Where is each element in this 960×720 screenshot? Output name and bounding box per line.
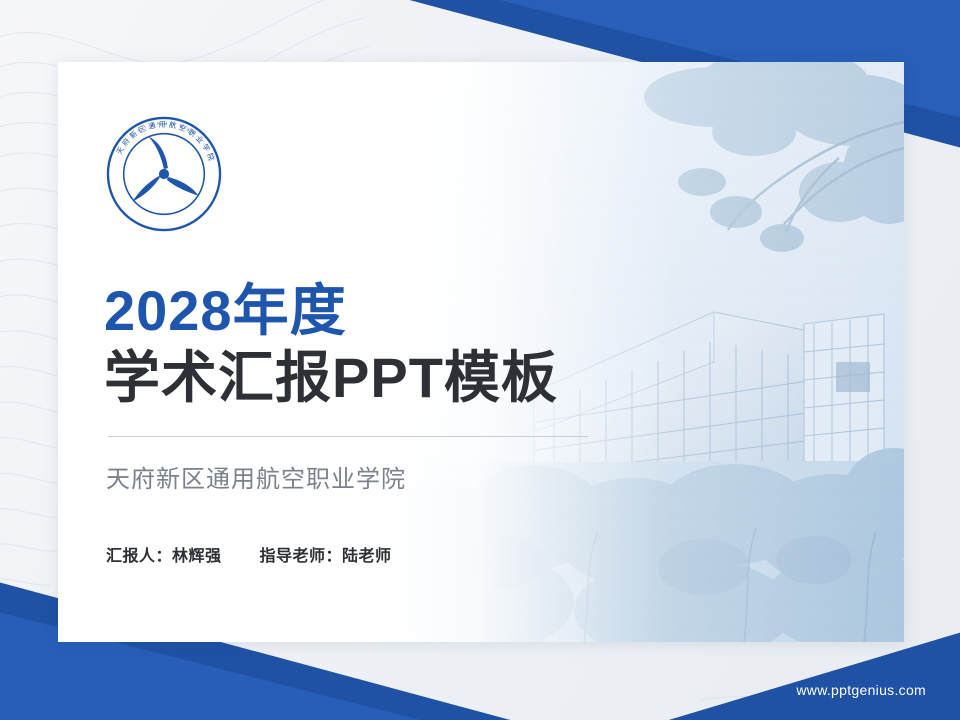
svg-text:N: N (157, 121, 161, 126)
website-url: www.pptgenius.com (796, 682, 926, 698)
school-emblem-icon: 天 府 新 区 通 用 航 空 职 业 学 院 T I A N (105, 115, 223, 233)
title-block: 2028年度 学术汇报PPT模板 天府新区通用航空职业学院 汇报人：林辉强指导老… (104, 282, 588, 566)
advisor-label: 指导老师 (260, 548, 326, 565)
presentation-slide: 天 府 新 区 通 用 航 空 职 业 学 院 T I A N (0, 0, 960, 720)
year-title: 2028年度 (104, 282, 588, 341)
meta-line: 汇报人：林辉强指导老师：陆老师 (106, 542, 588, 566)
svg-text:院: 院 (205, 152, 216, 163)
presenter-label: 汇报人 (106, 548, 156, 565)
school-logo: 天 府 新 区 通 用 航 空 职 业 学 院 T I A N (105, 115, 223, 233)
title-divider (108, 436, 588, 437)
content-card: 天 府 新 区 通 用 航 空 职 业 学 院 T I A N (58, 62, 904, 642)
main-title: 学术汇报PPT模板 (104, 347, 588, 410)
school-name: 天府新区通用航空职业学院 (106, 459, 588, 494)
advisor-name: ：陆老师 (326, 548, 392, 565)
presenter-name: ：林辉强 (156, 548, 222, 565)
svg-text:学: 学 (200, 142, 211, 153)
